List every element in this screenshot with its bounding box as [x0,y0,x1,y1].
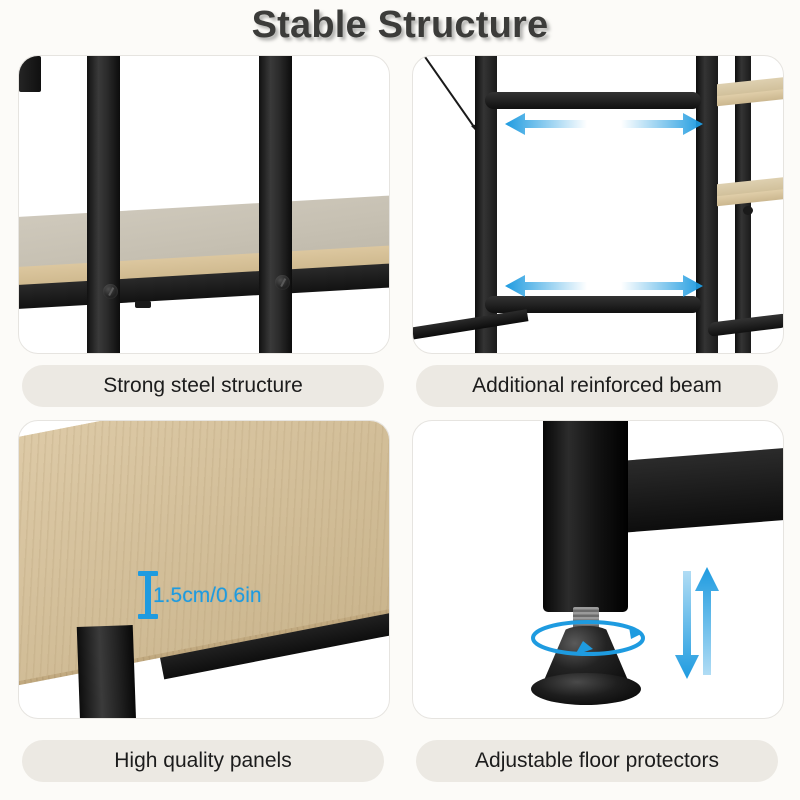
steel-bracket [19,56,41,92]
caption-adjustable-floor-protectors: Adjustable floor protectors [416,740,778,782]
shelf-peg [743,206,753,215]
steel-leg [543,421,628,612]
expansion-arrow-right-upper [621,112,705,136]
steel-post-right [259,56,292,353]
screw-icon [103,284,118,299]
height-adjust-arrow-icon [671,563,725,688]
illustration-strong-steel-structure [19,56,389,353]
caption-additional-reinforced-beam: Additional reinforced beam [416,365,778,407]
rotation-arrow-icon [525,611,651,670]
expansion-arrow-right-lower [621,274,705,298]
floor-protector-base [531,673,641,705]
illustration-additional-reinforced-beam [413,56,783,353]
panel-adjustable-floor-protectors [412,420,784,719]
illustration-adjustable-floor-protectors [413,421,783,718]
steel-post-left [87,56,120,353]
caption-high-quality-panels: High quality panels [22,740,384,782]
thickness-dimension-marker [145,573,151,617]
expansion-arrow-left-upper [503,112,587,136]
panel-strong-steel-structure [18,55,390,354]
page-title: Stable Structure [0,4,800,47]
expansion-arrow-left-lower [503,274,587,298]
panel-high-quality-panels: 1.5cm/0.6in [18,420,390,719]
thickness-dimension-label: 1.5cm/0.6in [153,584,262,608]
reinforced-beam-upper [485,92,701,109]
caption-strong-steel-structure: Strong steel structure [22,365,384,407]
horizontal-steel-rail [621,445,783,533]
illustration-high-quality-panels: 1.5cm/0.6in [19,421,389,718]
beam-tab [135,301,151,308]
panel-additional-reinforced-beam [412,55,784,354]
screw-icon [275,275,290,290]
infographic-page: Stable Structure [0,0,800,800]
steel-leg [77,625,138,718]
